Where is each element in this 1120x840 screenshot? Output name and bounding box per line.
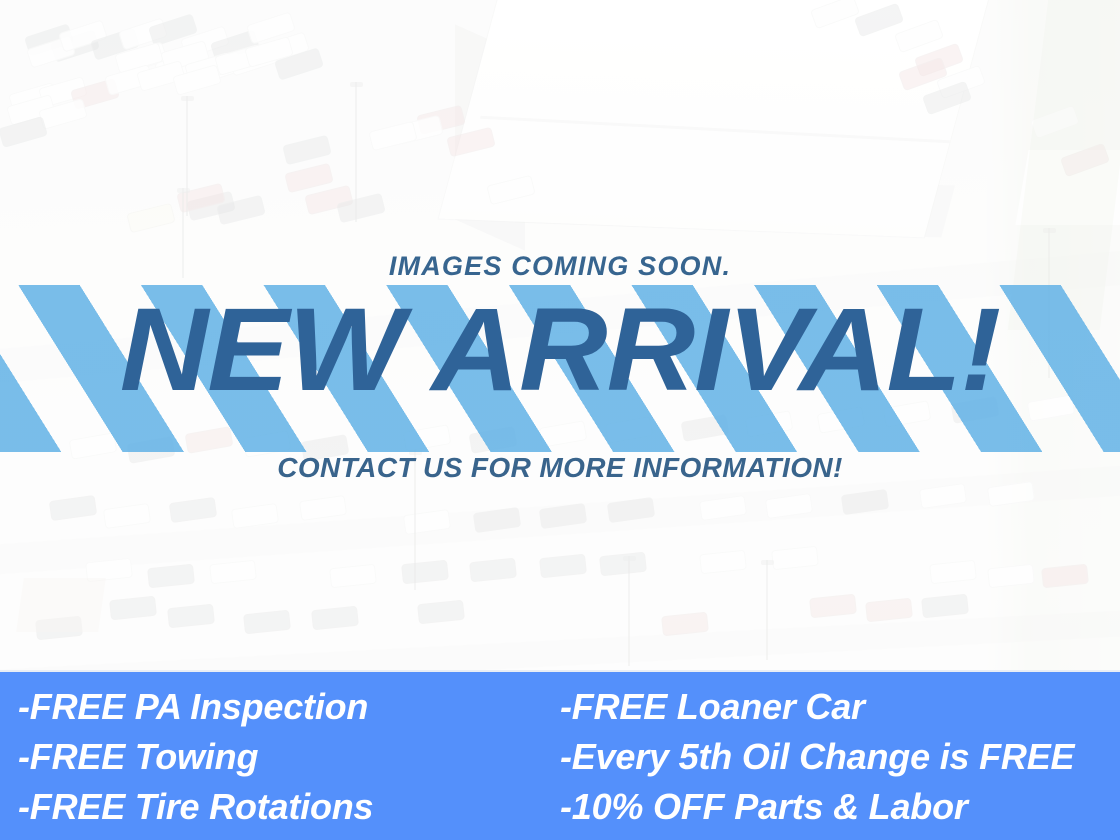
offers-right-column: -FREE Loaner Car -Every 5th Oil Change i… <box>548 682 1120 832</box>
images-coming-soon-text: IMAGES COMING SOON. <box>0 251 1120 282</box>
offer-item: -FREE Tire Rotations <box>18 782 548 832</box>
offer-item: -FREE Towing <box>18 732 548 782</box>
offer-item: -FREE PA Inspection <box>18 682 548 732</box>
contact-us-subline: CONTACT US FOR MORE INFORMATION! <box>0 452 1120 484</box>
offer-item: -Every 5th Oil Change is FREE <box>560 732 1120 782</box>
service-offers-banner: -FREE PA Inspection -FREE Towing -FREE T… <box>0 670 1120 840</box>
offer-item: -10% OFF Parts & Labor <box>560 782 1120 832</box>
vehicle-placeholder-image: IMAGES COMING SOON. NEW ARRIVAL! CONTACT… <box>0 0 1120 840</box>
offers-left-column: -FREE PA Inspection -FREE Towing -FREE T… <box>0 682 548 832</box>
new-arrival-headline: NEW ARRIVAL! <box>0 291 1120 409</box>
offer-item: -FREE Loaner Car <box>560 682 1120 732</box>
